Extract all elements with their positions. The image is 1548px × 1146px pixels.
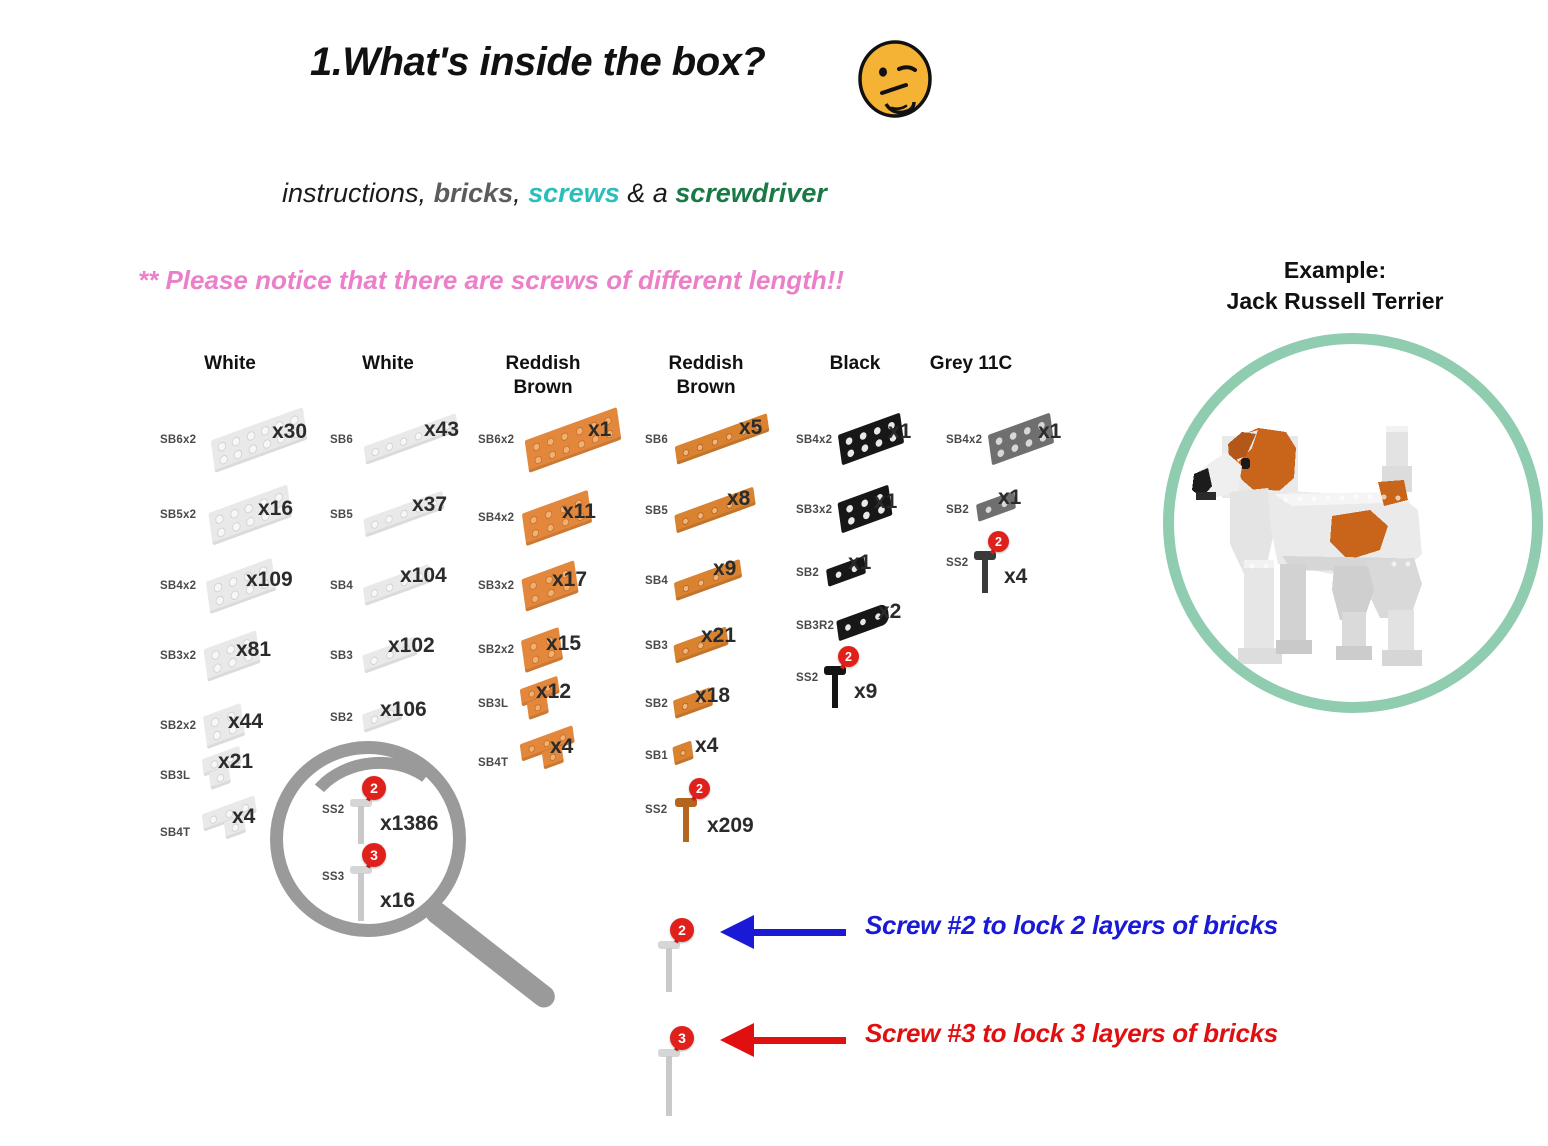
screw-length-notice: ** Please notice that there are screws o… [138,265,844,296]
part-row: SB6 x5 [645,412,815,472]
part-code: SB2 [645,698,668,710]
part-qty: x21 [218,750,253,774]
part-code: SB3x2 [160,650,196,662]
part-qty: x102 [388,634,435,658]
part-qty: x44 [228,710,263,734]
screw-code: SS3 [322,871,344,883]
part-qty: x30 [272,420,307,444]
example-title-line2: Jack Russell Terrier [1200,286,1470,317]
part-code: SB5 [645,505,668,517]
part-row: SB3R2 x2 [796,598,966,658]
subtitle-amp: & a [620,178,676,208]
part-row: SB3x2 x1 [796,482,966,542]
part-code: SB2 [946,504,969,516]
part-qty: x1 [1038,420,1061,444]
part-qty: x37 [412,493,447,517]
part-qty: x4 [695,734,718,758]
screw-badge: 3 [362,843,386,867]
part-row: SB5 x8 [645,483,815,543]
part-code: SB4T [478,757,508,769]
part-code: SB2x2 [160,720,196,732]
part-code: SB1 [645,750,668,762]
part-code: SB4T [160,827,190,839]
part-row: SB4T x4 [478,735,648,795]
screw-badge: 2 [362,776,386,800]
part-code: SB3L [478,698,508,710]
part-row: SB6x2 x1 [478,412,648,472]
contents-subtitle: instructions, bricks, screws & a screwdr… [282,178,827,209]
part-code: SB6x2 [478,434,514,446]
screw-badge: 2 [838,646,859,667]
part-qty: x1 [588,418,611,442]
part-qty: x1 [874,490,897,514]
part-row: SB6 x43 [330,412,500,472]
part-qty: x1 [998,486,1021,510]
part-qty: x21 [701,624,736,648]
part-row: SB1 x4 [645,728,815,788]
part-code: SB2 [330,712,353,724]
part-code: SB4x2 [946,434,982,446]
part-row: SB5x2 x16 [160,487,330,547]
jack-russell-terrier-image [1182,374,1532,694]
screw-qty: x209 [707,814,754,838]
part-code: SB4x2 [160,580,196,592]
part-code: SB3x2 [478,580,514,592]
part-row: SB3x2 x17 [478,558,648,618]
screw-qty: x16 [380,889,415,913]
part-qty: x12 [536,680,571,704]
part-row: SB2 x1 [946,482,1116,542]
screw-code: SS2 [796,672,818,684]
subtitle-bricks: bricks [434,178,514,208]
screw-code: SS2 [946,557,968,569]
part-code: SB6 [645,434,668,446]
part-code: SB3 [645,640,668,652]
subtitle-comma: , [513,178,528,208]
screw-badge: 2 [689,778,710,799]
part-qty: x8 [727,487,750,511]
part-row: SB4 x9 [645,553,815,613]
brick-SB1-brown [672,740,693,765]
part-code: SB6x2 [160,434,196,446]
column-header-reddish-brown-2: Reddish Brown [631,352,781,401]
part-code: SB3R2 [796,620,834,632]
part-code: SB3L [160,770,190,782]
legend-badge: 3 [670,1026,694,1050]
part-code: SB3 [330,650,353,662]
part-qty: x1 [888,420,911,444]
part-code: SB4 [330,580,353,592]
screw-row: SS2 2 x4 [946,535,1116,595]
screw-code: SS2 [645,804,667,816]
part-code: SB4 [645,575,668,587]
part-qty: x109 [246,568,293,592]
part-row: SB4x2 x11 [478,490,648,550]
part-row: SB4 x104 [330,558,500,618]
part-row: SB3L x12 [478,676,648,736]
column-header-white-2: White [313,352,463,376]
part-qty: x81 [236,638,271,662]
part-qty: x1 [848,551,871,575]
part-code: SB2 [796,567,819,579]
screw-row: SS2 2 x1386 [322,788,522,848]
part-code: SB4x2 [796,434,832,446]
part-qty: x5 [739,416,762,440]
part-row: SB2 x106 [330,690,500,750]
part-qty: x9 [713,557,736,581]
example-image-frame [1163,333,1543,713]
part-code: SB6 [330,434,353,446]
part-row: SB6x2 x30 [160,412,330,472]
part-row: SB4T x4 [160,805,330,865]
screw-code: SS2 [322,804,344,816]
screw-qty: x1386 [380,812,438,836]
legend-label-screw2: Screw #2 to lock 2 layers of bricks [865,910,1278,941]
part-qty: x4 [232,805,255,829]
part-row: SB2x2 x15 [478,622,648,682]
part-qty: x104 [400,564,447,588]
screw-badge: 2 [988,531,1009,552]
subtitle-screwdriver: screwdriver [675,178,827,208]
part-qty: x18 [695,684,730,708]
part-row: SB2 x1 [796,545,966,605]
column-header-reddish-brown-1: Reddish Brown [468,352,618,401]
example-title: Example: Jack Russell Terrier [1200,255,1470,317]
legend-badge: 2 [670,918,694,942]
legend-label-screw3: Screw #3 to lock 3 layers of bricks [865,1018,1278,1049]
screw-row: SS2 2 x9 [796,650,966,710]
example-title-line1: Example: [1200,255,1470,286]
column-header-grey: Grey 11C [896,352,1046,376]
column-header-white-1: White [155,352,305,376]
part-row: SB3x2 x81 [160,628,330,688]
subtitle-instructions: instructions, [282,178,434,208]
part-row: SB4x2 x1 [796,412,966,472]
part-qty: x43 [424,418,459,442]
part-code: SB3x2 [796,504,832,516]
screw-qty: x4 [1004,565,1027,589]
part-code: SB4x2 [478,512,514,524]
subtitle-screws: screws [528,178,620,208]
part-qty: x4 [550,735,573,759]
part-row: SB4x2 x109 [160,558,340,618]
screw-qty: x9 [854,680,877,704]
part-code: SB5x2 [160,509,196,521]
part-code: SB5 [330,509,353,521]
part-code: SB2x2 [478,644,514,656]
screw-row: SS3 3 x16 [322,855,522,915]
part-qty: x16 [258,497,293,521]
part-row: SB4x2 x1 [946,412,1116,472]
screw-row: SS2 2 x209 [645,780,815,840]
part-qty: x11 [562,500,596,524]
thinking-face-icon [852,38,938,124]
page-title: 1.What's inside the box? [310,40,765,85]
part-qty: x17 [552,568,587,592]
part-qty: x15 [546,632,581,656]
part-row: SB3 x102 [330,628,500,688]
part-qty: x2 [878,600,901,624]
part-row: SB2 x18 [645,676,815,736]
part-qty: x106 [380,698,427,722]
part-row: SB3 x21 [645,618,815,678]
part-row: SB5 x37 [330,487,500,547]
